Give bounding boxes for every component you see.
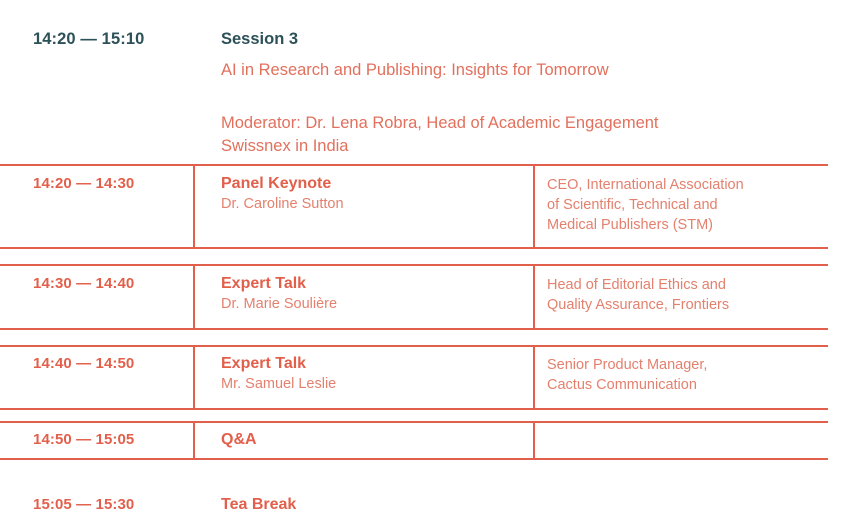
table-row: 14:20 — 14:30 Panel Keynote Dr. Caroline…: [0, 175, 845, 235]
row-affiliation-cell: Head of Editorial Ethics and Quality Ass…: [533, 275, 845, 315]
row-divider-top-2: [0, 264, 828, 266]
row-affiliation-cell: CEO, International Association of Scient…: [533, 175, 845, 235]
row-title-cell: Expert Talk Dr. Marie Soulière: [193, 275, 533, 315]
row-time-cell: 14:50 — 15:05: [0, 431, 193, 449]
row-title: Panel Keynote: [221, 175, 523, 193]
row-title-cell: Q&A: [193, 431, 533, 449]
row-time-cell: 14:40 — 14:50: [0, 355, 193, 395]
row-time-cell: 14:20 — 14:30: [0, 175, 193, 235]
session-label: Session 3: [221, 30, 298, 49]
row-time: 14:20 — 14:30: [33, 175, 185, 192]
session-header-block: 14:20 — 15:10 Session 3 AI in Research a…: [0, 0, 845, 164]
session-moderator: Moderator: Dr. Lena Robra, Head of Acade…: [221, 112, 659, 158]
row-divider-top-3: [0, 345, 828, 347]
row-affiliation-cell: [533, 496, 845, 514]
session-topic: AI in Research and Publishing: Insights …: [221, 61, 609, 80]
affiliation-line-2: Quality Assurance, Frontiers: [547, 295, 829, 315]
row-divider-bottom-4: [0, 458, 828, 460]
row-title: Tea Break: [221, 496, 523, 514]
affiliation-line-2: of Scientific, Technical and: [547, 195, 829, 215]
row-affiliation-cell: Senior Product Manager, Cactus Communica…: [533, 355, 845, 395]
row-time: 15:05 — 15:30: [33, 496, 185, 513]
session-agenda-table: 14:20 — 15:10 Session 3 AI in Research a…: [0, 0, 845, 509]
row-title: Expert Talk: [221, 355, 523, 373]
row-divider-bottom-1: [0, 247, 828, 249]
row-speaker: Dr. Marie Soulière: [221, 296, 523, 312]
moderator-line-1: Moderator: Dr. Lena Robra, Head of Acade…: [221, 114, 659, 132]
row-time: 14:50 — 15:05: [33, 431, 185, 448]
row-time-cell: 15:05 — 15:30: [0, 496, 193, 514]
row-speaker: Dr. Caroline Sutton: [221, 196, 523, 212]
row-title-cell: Expert Talk Mr. Samuel Leslie: [193, 355, 533, 395]
row-divider-bottom-2: [0, 328, 828, 330]
row-affiliation-cell: [533, 431, 845, 449]
row-title: Expert Talk: [221, 275, 523, 293]
row-time: 14:40 — 14:50: [33, 355, 185, 372]
row-title: Q&A: [221, 431, 523, 449]
row-speaker: Mr. Samuel Leslie: [221, 376, 523, 392]
row-time-cell: 14:30 — 14:40: [0, 275, 193, 315]
session-time: 14:20 — 15:10: [33, 30, 144, 49]
row-affiliation: CEO, International Association of Scient…: [547, 175, 829, 235]
affiliation-line-1: Senior Product Manager,: [547, 355, 829, 375]
row-title-cell: Tea Break: [193, 496, 533, 514]
row-time: 14:30 — 14:40: [33, 275, 185, 292]
table-row: 15:05 — 15:30 Tea Break: [0, 496, 845, 514]
row-affiliation: Head of Editorial Ethics and Quality Ass…: [547, 275, 829, 315]
table-row: 14:40 — 14:50 Expert Talk Mr. Samuel Les…: [0, 355, 845, 395]
row-affiliation: Senior Product Manager, Cactus Communica…: [547, 355, 829, 395]
affiliation-line-2: Cactus Communication: [547, 375, 829, 395]
table-row: 14:50 — 15:05 Q&A: [0, 431, 845, 449]
row-divider-top-1: [0, 164, 828, 166]
table-row: 14:30 — 14:40 Expert Talk Dr. Marie Soul…: [0, 275, 845, 315]
row-divider-bottom-3: [0, 408, 828, 410]
affiliation-line-1: CEO, International Association: [547, 175, 829, 195]
affiliation-line-3: Medical Publishers (STM): [547, 215, 829, 235]
row-title-cell: Panel Keynote Dr. Caroline Sutton: [193, 175, 533, 235]
affiliation-line-1: Head of Editorial Ethics and: [547, 275, 829, 295]
row-divider-top-4: [0, 421, 828, 423]
moderator-line-2: Swissnex in India: [221, 135, 659, 158]
